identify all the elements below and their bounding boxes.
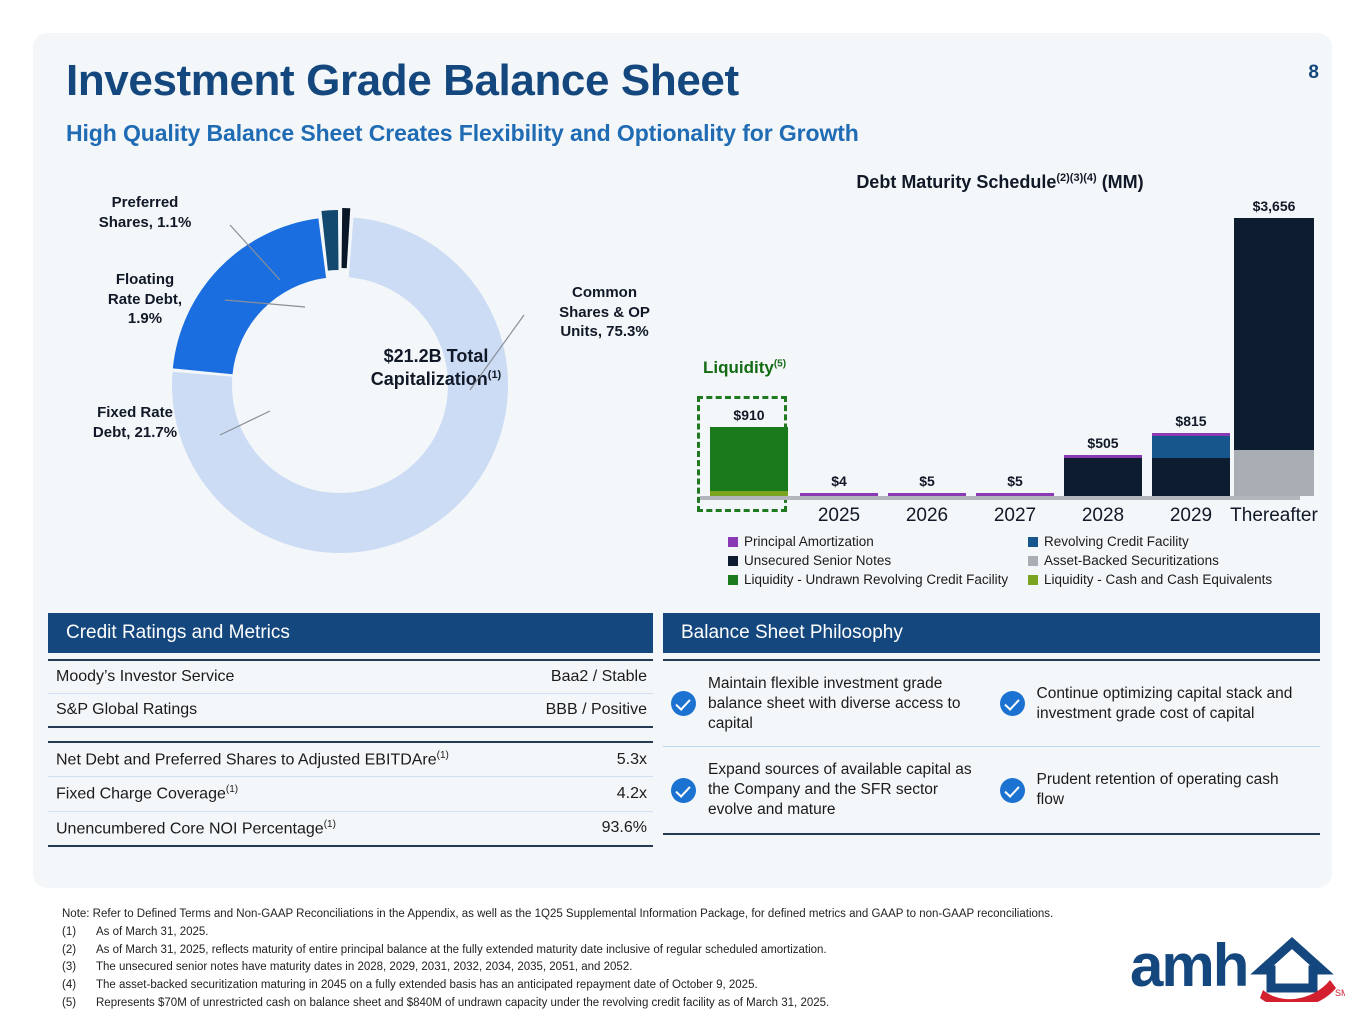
x-axis-label-thereafter: Thereafter <box>1222 505 1326 527</box>
bar-value-label: $505 <box>1087 435 1118 451</box>
legend-swatch-unsecured-senior-notes <box>728 556 738 566</box>
legend-item: Liquidity - Cash and Cash Equivalents <box>1028 572 1288 587</box>
bar-chart-title: Debt Maturity Schedule(2)(3)(4) (MM) <box>690 172 1310 193</box>
row-label: Moody’s Investor Service <box>56 668 234 686</box>
table-row: Net Debt and Preferred Shares to Adjuste… <box>48 743 653 777</box>
list-item: Maintain flexible investment grade balan… <box>663 661 992 746</box>
table-divider <box>48 728 653 735</box>
legend-label: Liquidity - Cash and Cash Equivalents <box>1044 572 1272 587</box>
x-axis-label-2026: 2026 <box>876 505 978 527</box>
check-icon <box>671 778 696 803</box>
check-icon <box>671 691 696 716</box>
footnote-text: The unsecured senior notes have maturity… <box>96 959 632 977</box>
bar-segment-asset-backed-securitizations <box>1234 450 1314 496</box>
x-axis-label-2025: 2025 <box>788 505 890 527</box>
bar-segment-principal-amortization <box>976 493 1054 496</box>
footnote-text: As of March 31, 2025. <box>96 924 209 942</box>
donut-label-preferred-shares: Preferred Shares, 1.1% <box>65 193 225 232</box>
bar-column-2028: $505 <box>1064 455 1142 496</box>
table-row: S&P Global Ratings BBB / Positive <box>48 694 653 726</box>
footnote-item: (4) The asset-backed securitization matu… <box>62 977 1242 995</box>
bar-value-label: $815 <box>1175 413 1206 429</box>
amh-logo: amh SM <box>1130 930 1345 1002</box>
bar-segment-liquidity-undrawn-revolving-credit-facility <box>710 427 788 491</box>
footnote-marker: (1) <box>62 924 96 942</box>
row-label: Fixed Charge Coverage(1) <box>56 784 238 803</box>
philosophy-text: Continue optimizing capital stack and in… <box>1037 684 1311 724</box>
footnote-text: As of March 31, 2025, reflects maturity … <box>96 942 827 960</box>
row-value: 5.3x <box>617 751 647 769</box>
legend-item: Revolving Credit Facility <box>1028 534 1288 549</box>
footnote-item: (1) As of March 31, 2025. <box>62 924 1242 942</box>
bar-column-thereafter: $3,656 <box>1234 218 1314 496</box>
philosophy-row: Maintain flexible investment grade balan… <box>663 661 1320 747</box>
bar-column-liquidity: $910 <box>710 427 788 496</box>
philosophy-row: Expand sources of available capital as t… <box>663 747 1320 832</box>
legend-swatch-principal-amortization <box>728 537 738 547</box>
donut-slice-preferred-shares <box>342 208 351 268</box>
bar-value-label: $5 <box>1007 473 1023 489</box>
footnotes: Note: Refer to Defined Terms and Non-GAA… <box>62 906 1242 1013</box>
footnote-item: (2) As of March 31, 2025, reflects matur… <box>62 942 1242 960</box>
philosophy-panel-heading: Balance Sheet Philosophy <box>663 613 1320 653</box>
legend-swatch-liquidity-cash <box>1028 575 1038 585</box>
bar-value-label: $4 <box>831 473 847 489</box>
footnote-marker: (5) <box>62 995 96 1013</box>
list-item: Prudent retention of operating cash flow <box>992 747 1321 832</box>
footnote-marker: (4) <box>62 977 96 995</box>
page-subtitle: High Quality Balance Sheet Creates Flexi… <box>66 120 859 147</box>
bar-segment-principal-amortization <box>888 493 966 496</box>
table-row: Unencumbered Core NOI Percentage(1) 93.6… <box>48 812 653 845</box>
bar-column-2027: $5 <box>976 493 1054 496</box>
footnote-note: Note: Refer to Defined Terms and Non-GAA… <box>62 906 1242 924</box>
donut-label-common-shares: Common Shares & OP Units, 75.3% <box>532 283 677 342</box>
house-roof-icon <box>1262 943 1322 988</box>
bar-segment-liquidity-cash-and-cash-equivalents <box>710 491 788 496</box>
row-label: S&P Global Ratings <box>56 701 197 719</box>
legend-item: Asset-Backed Securitizations <box>1028 553 1288 568</box>
credit-panel-heading: Credit Ratings and Metrics <box>48 613 653 653</box>
bar-segment-unsecured-senior-notes <box>1064 458 1142 496</box>
philosophy-text: Prudent retention of operating cash flow <box>1037 770 1311 810</box>
legend-label: Principal Amortization <box>744 534 874 549</box>
row-label: Unencumbered Core NOI Percentage(1) <box>56 819 336 838</box>
bar-segment-unsecured-senior-notes <box>1152 458 1230 496</box>
legend-label: Unsecured Senior Notes <box>744 553 891 568</box>
legend-label: Liquidity - Undrawn Revolving Credit Fac… <box>744 572 1008 587</box>
legend-item: Principal Amortization <box>728 534 1028 549</box>
credit-ratings-panel: Credit Ratings and Metrics Moody’s Inves… <box>48 613 653 847</box>
legend-item: Liquidity - Undrawn Revolving Credit Fac… <box>728 572 1028 587</box>
credit-metrics-table: Net Debt and Preferred Shares to Adjuste… <box>48 741 653 847</box>
bar-column-2029: $815 <box>1152 433 1230 496</box>
legend-item: Unsecured Senior Notes <box>728 553 1028 568</box>
chart-x-axis <box>700 496 1300 500</box>
x-axis-label-2028: 2028 <box>1052 505 1154 527</box>
legend-label: Asset-Backed Securitizations <box>1044 553 1219 568</box>
bar-segment-revolving-credit-facility <box>1152 436 1230 459</box>
check-icon <box>1000 691 1025 716</box>
bar-column-2025: $4 <box>800 493 878 496</box>
list-item: Expand sources of available capital as t… <box>663 747 992 832</box>
row-value: BBB / Positive <box>546 701 647 719</box>
trademark-mark: SM <box>1335 988 1345 998</box>
row-label: Net Debt and Preferred Shares to Adjuste… <box>56 750 449 769</box>
svg-text:amh: amh <box>1130 932 1247 999</box>
row-value: 4.2x <box>617 785 647 803</box>
legend-label: Revolving Credit Facility <box>1044 534 1189 549</box>
bar-segment-principal-amortization <box>800 493 878 496</box>
amh-logo-svg: amh SM <box>1130 930 1345 1002</box>
philosophy-list: Maintain flexible investment grade balan… <box>663 659 1320 835</box>
bar-column-2026: $5 <box>888 493 966 496</box>
donut-slice-floating-rate-debt <box>321 210 338 271</box>
table-row: Fixed Charge Coverage(1) 4.2x <box>48 777 653 811</box>
row-value: 93.6% <box>602 819 647 837</box>
footnote-text: Note: Refer to Defined Terms and Non-GAA… <box>62 906 1053 924</box>
donut-label-floating-rate-debt: Floating Rate Debt, 1.9% <box>70 270 220 329</box>
bar-value-label: $910 <box>733 407 764 423</box>
footnote-item: (3) The unsecured senior notes have matu… <box>62 959 1242 977</box>
table-row: Moody’s Investor Service Baa2 / Stable <box>48 661 653 694</box>
footnote-text: Represents $70M of unrestricted cash on … <box>96 995 829 1013</box>
row-value: Baa2 / Stable <box>551 668 647 686</box>
legend-swatch-liquidity-undrawn <box>728 575 738 585</box>
bar-value-label: $5 <box>919 473 935 489</box>
list-item: Continue optimizing capital stack and in… <box>992 661 1321 746</box>
bar-segment-unsecured-senior-notes <box>1234 218 1314 450</box>
legend-swatch-asset-backed-securitizations <box>1028 556 1038 566</box>
footnote-marker: (3) <box>62 959 96 977</box>
legend-swatch-revolving-credit-facility <box>1028 537 1038 547</box>
page-number: 8 <box>1308 62 1319 84</box>
bar-value-label: $3,656 <box>1253 198 1296 214</box>
x-axis-label-2027: 2027 <box>964 505 1066 527</box>
debt-maturity-chart-plot: $910$4$5$5$505$815$3,656 <box>700 205 1300 500</box>
balance-sheet-philosophy-panel: Balance Sheet Philosophy Maintain flexib… <box>663 613 1320 835</box>
bar-chart-legend: Principal Amortization Revolving Credit … <box>728 534 1288 587</box>
footnote-marker: (2) <box>62 942 96 960</box>
donut-center-label: $21.2B Total Capitalization(1) <box>341 345 531 392</box>
page-title: Investment Grade Balance Sheet <box>66 58 739 104</box>
philosophy-text: Maintain flexible investment grade balan… <box>708 674 982 733</box>
check-icon <box>1000 778 1025 803</box>
credit-ratings-table: Moody’s Investor Service Baa2 / Stable S… <box>48 659 653 728</box>
footnote-text: The asset-backed securitization maturing… <box>96 977 758 995</box>
footnote-item: (5) Represents $70M of unrestricted cash… <box>62 995 1242 1013</box>
donut-label-fixed-rate-debt: Fixed Rate Debt, 21.7% <box>50 403 220 442</box>
capitalization-donut-chart: $21.2B Total Capitalization(1) Preferred… <box>120 185 680 585</box>
philosophy-text: Expand sources of available capital as t… <box>708 760 982 819</box>
